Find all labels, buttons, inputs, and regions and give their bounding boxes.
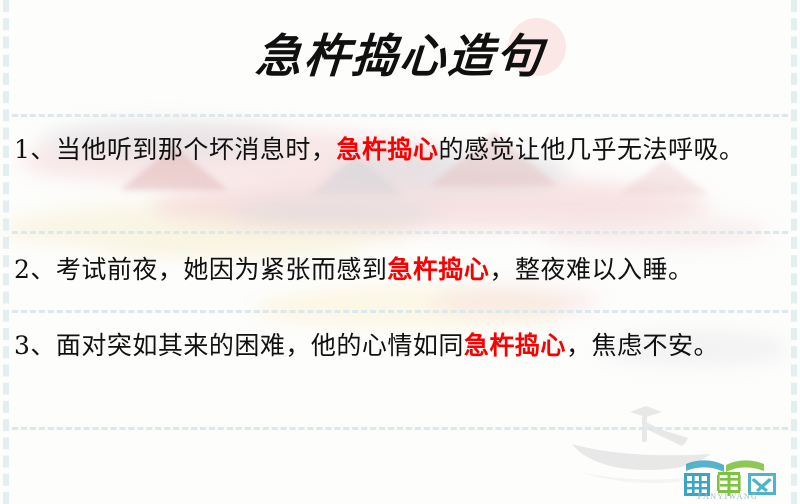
keyword-highlight: 急杵捣心	[387, 255, 489, 284]
sentence-text-after: 的感觉让他几乎无法呼吸。	[438, 135, 744, 164]
sentence-item-3: 3、面对突如其来的困难，他的心情如同急杵捣心，焦虑不安。	[14, 324, 784, 367]
site-logo-caption: FANYIWANG	[668, 492, 788, 501]
sentence-index: 3、	[14, 331, 56, 360]
page-root: 急杵捣心造句 1、当他听到那个坏消息时，急杵捣心的感觉让他几乎无法呼吸。 2、考…	[0, 0, 800, 504]
sentence-text-before: 考试前夜，她因为紧张而感到	[56, 255, 388, 284]
sentence-text-before: 当他听到那个坏消息时，	[56, 135, 337, 164]
sentence-index: 2、	[14, 255, 56, 284]
sentence-index: 1、	[14, 135, 56, 164]
keyword-highlight: 急杵捣心	[336, 135, 438, 164]
sentence-text-before: 面对突如其来的困难，他的心情如同	[56, 331, 464, 360]
page-content: 急杵捣心造句 1、当他听到那个坏消息时，急杵捣心的感觉让他几乎无法呼吸。 2、考…	[0, 0, 800, 504]
page-border-left	[3, 0, 9, 504]
sentence-item-2: 2、考试前夜，她因为紧张而感到急杵捣心，整夜难以入睡。	[14, 248, 784, 291]
page-border-right	[791, 0, 797, 504]
sentence-text-after: ，焦虑不安。	[566, 331, 719, 360]
sentence-item-1: 1、当他听到那个坏消息时，急杵捣心的感觉让他几乎无法呼吸。	[14, 128, 784, 171]
sentence-text-after: ，整夜难以入睡。	[489, 255, 693, 284]
divider-line	[12, 114, 788, 117]
keyword-highlight: 急杵捣心	[464, 331, 566, 360]
divider-line	[12, 231, 788, 234]
divider-line	[12, 310, 788, 313]
divider-line	[12, 427, 788, 430]
page-title: 急杵捣心造句	[0, 20, 800, 86]
